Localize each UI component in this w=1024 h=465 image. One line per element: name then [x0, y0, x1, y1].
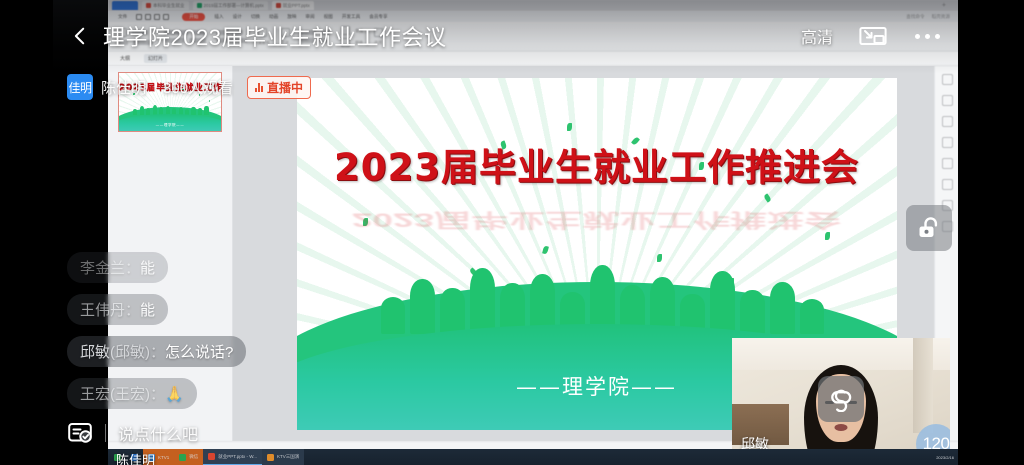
list-item[interactable]: 李金兰：能: [67, 252, 168, 283]
divider: [154, 81, 155, 94]
folder-icon[interactable]: [942, 137, 953, 148]
chat-sender: 王宏(王宏)：: [80, 386, 165, 403]
taskbar-item-ktv1-label: KTV1: [158, 455, 169, 460]
quality-label[interactable]: 高清: [801, 24, 833, 48]
presenter-name: 陈佳明: [101, 77, 146, 98]
taskbar-user-name: 陈佳明: [116, 450, 155, 465]
wps-tab-home[interactable]: [112, 1, 138, 10]
ppt-file-icon: [276, 3, 281, 8]
windows-taskbar: KTV1 微信 就业PPT.pptx - W... KTV三国演 2023/2/…: [108, 449, 960, 465]
live-status-badge[interactable]: 直播中: [247, 76, 311, 99]
header-actions: 高清: [801, 21, 942, 51]
letterbox-right: [958, 0, 1024, 465]
letterbox-left: [0, 0, 53, 465]
portrait-mouth: [835, 424, 848, 431]
unlock-icon: [916, 215, 942, 241]
taskbar-item-wechat-label: 微信: [189, 454, 198, 460]
video-doorframe: [913, 338, 933, 433]
live-status-label: 直播中: [267, 79, 303, 96]
more-dot: [925, 34, 930, 39]
wechat-icon: [179, 454, 186, 461]
wps-tab-1[interactable]: 本科毕业生就业: [142, 1, 189, 10]
slide-title: 2023届毕业生就业工作推进会: [297, 137, 897, 191]
chat-sender: 李金兰：: [80, 260, 140, 277]
live-bars-icon: [255, 83, 263, 92]
taskbar-item-ktv2-label: KTV三国演: [277, 454, 299, 460]
list-item[interactable]: 邱敏(邱敏)：怎么说话?: [67, 336, 246, 367]
message-check-icon[interactable]: [67, 420, 93, 446]
outline-icon[interactable]: [942, 95, 953, 106]
thumbnail-subtitle: ——理学院——: [119, 123, 221, 128]
wps-tab-2-label: 2019届工作部署—计算机.pptx: [204, 3, 264, 9]
wps-tab-2[interactable]: 2019届工作部署—计算机.pptx: [193, 1, 268, 10]
taskbar-item-ktv2[interactable]: KTV三国演: [262, 449, 304, 465]
pin-icon[interactable]: [942, 116, 953, 127]
chat-text: 能: [140, 260, 155, 277]
list-item[interactable]: 王宏(王宏)：🙏: [67, 378, 197, 409]
viewer-count: 300人观看: [163, 77, 233, 98]
image-icon[interactable]: [942, 179, 953, 190]
app-icon: [267, 454, 274, 461]
self-view-video[interactable]: 邱敏 120: [732, 338, 950, 460]
swap-camera-icon: [828, 386, 854, 412]
taskbar-item-wechat[interactable]: 微信: [174, 449, 203, 465]
clock-icon[interactable]: [942, 158, 953, 169]
chat-input[interactable]: 说点什么吧: [118, 421, 198, 445]
taskbar-clock[interactable]: 2023/2/16: [936, 455, 960, 460]
picture-in-picture-button[interactable]: [855, 21, 891, 51]
page-title: 理学院2023届毕业生就业工作会议: [103, 20, 446, 52]
chevron-left-icon[interactable]: [69, 25, 91, 47]
list-item[interactable]: 王伟丹：能: [67, 294, 168, 325]
presenter-info: 佳明 陈佳明 300人观看 直播中: [67, 74, 311, 100]
wps-tab-3[interactable]: 就业PPT.pptx: [272, 1, 314, 10]
more-dot: [935, 34, 940, 39]
excel-file-icon: [197, 3, 202, 8]
swap-camera-button[interactable]: [818, 376, 864, 422]
chat-message-list: 李金兰：能 王伟丹：能 邱敏(邱敏)：怎么说话? 王宏(王宏)：🙏: [67, 252, 367, 409]
wps-tab-3-label: 就业PPT.pptx: [283, 3, 310, 9]
chat-sender: 邱敏(邱敏)：: [80, 344, 165, 361]
ppt-icon: [208, 453, 215, 460]
taskbar-item-ppt[interactable]: 就业PPT.pptx - W...: [203, 449, 262, 465]
chat-text: 能: [140, 302, 155, 319]
ppt-file-icon: [146, 3, 151, 8]
more-options-button[interactable]: [913, 28, 942, 45]
chat-sender: 王伟丹：: [80, 302, 140, 319]
picture-in-picture-icon: [859, 24, 887, 48]
wps-tab-bar: 本科毕业生就业 2019届工作部署—计算机.pptx 就业PPT.pptx +: [108, 0, 960, 11]
chat-text: 🙏: [165, 386, 184, 403]
unlock-button[interactable]: [906, 205, 952, 251]
divider: [105, 424, 106, 442]
new-tab-icon[interactable]: +: [942, 2, 946, 9]
slide-title-reflection: 2023届毕业生就业工作推进会: [297, 208, 897, 236]
avatar[interactable]: 佳明: [67, 74, 93, 100]
graduates-silhouette: [381, 257, 825, 334]
wps-tab-1-label: 本科毕业生就业: [153, 3, 185, 9]
taskbar-item-ppt-label: 就业PPT.pptx - W...: [218, 454, 257, 460]
cloud-icon[interactable]: [942, 74, 953, 85]
stream-header: 理学院2023届毕业生就业工作会议 高清: [53, 16, 958, 56]
chat-text: 怎么说话?: [165, 344, 233, 361]
more-dot: [915, 34, 920, 39]
screen-root: 本科毕业生就业 2019届工作部署—计算机.pptx 就业PPT.pptx + …: [0, 0, 1024, 465]
